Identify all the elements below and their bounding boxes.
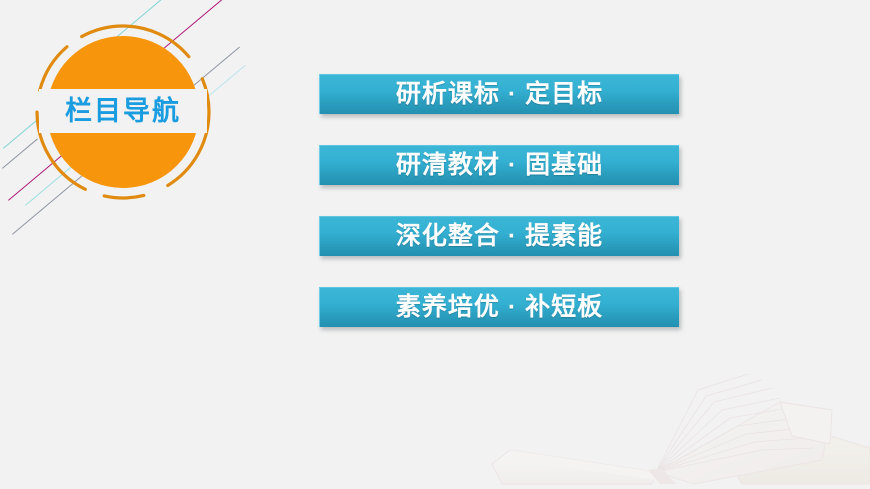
nav-button-label: 研清教材 · 固基础 [396,153,603,178]
nav-button-2[interactable]: 研清教材 · 固基础 [319,145,679,185]
logo-label: 栏目导航 [65,98,181,125]
nav-button-label: 素养培优 · 补短板 [396,295,603,320]
nav-button-label: 研析课标 · 定目标 [396,82,603,107]
open-book-illustration [480,344,870,489]
nav-button-3[interactable]: 深化整合 · 提素能 [319,216,679,256]
slide-canvas: 栏目导航 研析课标 · 定目标研清教材 · 固基础深化整合 · 提素能素养培优 … [0,0,870,489]
nav-button-1[interactable]: 研析课标 · 定目标 [319,74,679,114]
logo-text-band: 栏目导航 [39,89,207,133]
navigation-button-list: 研析课标 · 定目标研清教材 · 固基础深化整合 · 提素能素养培优 · 补短板 [319,74,679,327]
column-navigation-badge: 栏目导航 [33,22,213,202]
nav-button-4[interactable]: 素养培优 · 补短板 [319,287,679,327]
nav-button-label: 深化整合 · 提素能 [396,224,603,249]
